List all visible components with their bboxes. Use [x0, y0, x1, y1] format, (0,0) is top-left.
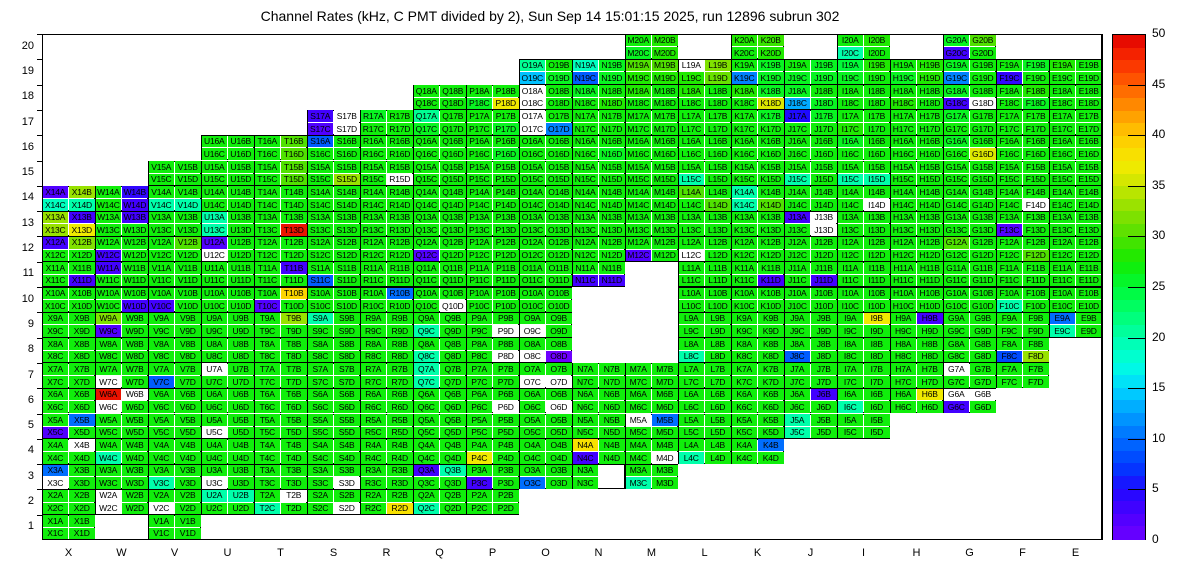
channel-p5a[interactable]: P5A	[467, 414, 493, 426]
channel-i5b[interactable]: I5B	[864, 414, 890, 426]
channel-p17d[interactable]: P17D	[493, 123, 519, 135]
channel-o17a[interactable]: O17A	[520, 110, 546, 122]
channel-p6a[interactable]: P6A	[467, 389, 493, 401]
channel-q7b[interactable]: Q7B	[440, 363, 466, 375]
channel-k16c[interactable]: K16C	[732, 148, 758, 160]
channel-i16c[interactable]: I16C	[838, 148, 864, 160]
channel-o5b[interactable]: O5B	[546, 414, 572, 426]
channel-h8a[interactable]: H8A	[891, 338, 917, 350]
channel-v12d[interactable]: V12D	[175, 250, 201, 262]
channel-i9b[interactable]: I9B	[864, 313, 890, 325]
channel-s6d[interactable]: S6D	[334, 401, 360, 413]
channel-f9b[interactable]: F9B	[1023, 313, 1049, 325]
channel-g13c[interactable]: G13C	[944, 224, 970, 236]
channel-v10a[interactable]: V10A	[149, 288, 175, 300]
channel-k15b[interactable]: K15B	[758, 161, 784, 173]
channel-s14b[interactable]: S14B	[334, 186, 360, 198]
channel-l15b[interactable]: L15B	[705, 161, 731, 173]
channel-q9c[interactable]: Q9C	[414, 325, 440, 337]
channel-r14a[interactable]: R14A	[361, 186, 387, 198]
channel-g10c[interactable]: G10C	[944, 300, 970, 312]
channel-v6d[interactable]: V6D	[175, 401, 201, 413]
channel-r15d[interactable]: R15D	[387, 174, 413, 186]
channel-n14d[interactable]: N14D	[599, 199, 625, 211]
channel-o19b[interactable]: O19B	[546, 60, 572, 72]
channel-k7a[interactable]: K7A	[732, 363, 758, 375]
channel-q2d[interactable]: Q2D	[440, 503, 466, 515]
channel-o13d[interactable]: O13D	[546, 224, 572, 236]
channel-u16b[interactable]: U16B	[228, 136, 254, 148]
channel-n4a[interactable]: N4A	[573, 439, 599, 451]
channel-x14c[interactable]: X14C	[43, 199, 69, 211]
channel-t11b[interactable]: T11B	[281, 262, 307, 274]
channel-m19a[interactable]: M19A	[626, 60, 652, 72]
channel-l13c[interactable]: L13C	[679, 224, 705, 236]
channel-v4b[interactable]: V4B	[175, 439, 201, 451]
channel-k6c[interactable]: K6C	[732, 401, 758, 413]
channel-h16a[interactable]: H16A	[891, 136, 917, 148]
channel-k9b[interactable]: K9B	[758, 313, 784, 325]
channel-l14b[interactable]: L14B	[705, 186, 731, 198]
channel-i11b[interactable]: I11B	[864, 262, 890, 274]
channel-v15c[interactable]: V15C	[149, 174, 175, 186]
channel-i12d[interactable]: I12D	[864, 250, 890, 262]
channel-i13d[interactable]: I13D	[864, 224, 890, 236]
channel-h19b[interactable]: H19B	[917, 60, 943, 72]
channel-u13b[interactable]: U13B	[228, 212, 254, 224]
channel-n14c[interactable]: N14C	[573, 199, 599, 211]
channel-g17b[interactable]: G17B	[970, 110, 996, 122]
channel-t4b[interactable]: T4B	[281, 439, 307, 451]
channel-v13d[interactable]: V13D	[175, 224, 201, 236]
channel-e19c[interactable]: E19C	[1050, 72, 1076, 84]
channel-o3a[interactable]: O3A	[520, 465, 546, 477]
channel-i11a[interactable]: I11A	[838, 262, 864, 274]
channel-o8a[interactable]: O8A	[520, 338, 546, 350]
channel-r14c[interactable]: R14C	[361, 199, 387, 211]
channel-x1c[interactable]: X1C	[43, 528, 69, 540]
channel-q8d[interactable]: Q8D	[440, 351, 466, 363]
channel-q11b[interactable]: Q11B	[440, 262, 466, 274]
channel-u10a[interactable]: U10A	[202, 288, 228, 300]
channel-u14b[interactable]: U14B	[228, 186, 254, 198]
channel-s15c[interactable]: S15C	[308, 174, 334, 186]
channel-j11b[interactable]: J11B	[811, 262, 837, 274]
channel-n5a[interactable]: N5A	[573, 414, 599, 426]
channel-u12a[interactable]: U12A	[202, 237, 228, 249]
channel-g8a[interactable]: G8A	[944, 338, 970, 350]
channel-t14a[interactable]: T14A	[255, 186, 281, 198]
channel-j19d[interactable]: J19D	[811, 72, 837, 84]
channel-l17a[interactable]: L17A	[679, 110, 705, 122]
channel-w14b[interactable]: W14B	[122, 186, 148, 198]
channel-f11d[interactable]: F11D	[1023, 275, 1049, 287]
channel-t3c[interactable]: T3C	[255, 477, 281, 489]
channel-g6d[interactable]: G6D	[970, 401, 996, 413]
channel-t16d[interactable]: T16D	[281, 148, 307, 160]
channel-s17a[interactable]: S17A	[308, 110, 334, 122]
channel-l6b[interactable]: L6B	[705, 389, 731, 401]
channel-p11d[interactable]: P11D	[493, 275, 519, 287]
channel-k15c[interactable]: K15C	[732, 174, 758, 186]
channel-m6c[interactable]: M6C	[626, 401, 652, 413]
channel-u9a[interactable]: U9A	[202, 313, 228, 325]
channel-j17b[interactable]: J17B	[811, 110, 837, 122]
channel-h6b[interactable]: H6B	[917, 389, 943, 401]
channel-h12a[interactable]: H12A	[891, 237, 917, 249]
channel-m13a[interactable]: M13A	[626, 212, 652, 224]
channel-p7b[interactable]: P7B	[493, 363, 519, 375]
channel-k11a[interactable]: K11A	[732, 262, 758, 274]
channel-p2c[interactable]: P2C	[467, 503, 493, 515]
channel-i5c[interactable]: I5C	[838, 427, 864, 439]
channel-q16d[interactable]: Q16D	[440, 148, 466, 160]
channel-k15d[interactable]: K15D	[758, 174, 784, 186]
channel-f9a[interactable]: F9A	[997, 313, 1023, 325]
channel-g19d[interactable]: G19D	[970, 72, 996, 84]
channel-h8b[interactable]: H8B	[917, 338, 943, 350]
channel-x9b[interactable]: X9B	[69, 313, 95, 325]
channel-t16a[interactable]: T16A	[255, 136, 281, 148]
channel-v1b[interactable]: V1B	[175, 515, 201, 527]
channel-q5b[interactable]: Q5B	[440, 414, 466, 426]
channel-q6b[interactable]: Q6B	[440, 389, 466, 401]
channel-g12b[interactable]: G12B	[970, 237, 996, 249]
channel-m17c[interactable]: M17C	[626, 123, 652, 135]
channel-s3a[interactable]: S3A	[308, 465, 334, 477]
channel-v3b[interactable]: V3B	[175, 465, 201, 477]
channel-w3a[interactable]: W3A	[96, 465, 122, 477]
channel-u10c[interactable]: U10C	[202, 300, 228, 312]
channel-r17d[interactable]: R17D	[387, 123, 413, 135]
channel-j5d[interactable]: J5D	[811, 427, 837, 439]
channel-s5b[interactable]: S5B	[334, 414, 360, 426]
channel-h7c[interactable]: H7C	[891, 376, 917, 388]
channel-f15a[interactable]: F15A	[997, 161, 1023, 173]
channel-g17c[interactable]: G17C	[944, 123, 970, 135]
channel-x11b[interactable]: X11B	[69, 262, 95, 274]
channel-n17c[interactable]: N17C	[573, 123, 599, 135]
channel-q6d[interactable]: Q6D	[440, 401, 466, 413]
channel-n13b[interactable]: N13B	[599, 212, 625, 224]
channel-o3d[interactable]: O3D	[546, 477, 572, 489]
channel-g20b[interactable]: G20B	[970, 35, 996, 47]
channel-q7d[interactable]: Q7D	[440, 376, 466, 388]
channel-q14d[interactable]: Q14D	[440, 199, 466, 211]
channel-p6c[interactable]: P6C	[467, 401, 493, 413]
channel-g12c[interactable]: G12C	[944, 250, 970, 262]
channel-f16b[interactable]: F16B	[1023, 136, 1049, 148]
channel-f7d[interactable]: F7D	[1023, 376, 1049, 388]
channel-e15d[interactable]: E15D	[1076, 174, 1102, 186]
channel-l5d[interactable]: L5D	[705, 427, 731, 439]
channel-o7c[interactable]: O7C	[520, 376, 546, 388]
channel-u7c[interactable]: U7C	[202, 376, 228, 388]
channel-f17d[interactable]: F17D	[1023, 123, 1049, 135]
channel-p9c[interactable]: P9C	[467, 325, 493, 337]
channel-g11b[interactable]: G11B	[970, 262, 996, 274]
channel-l11b[interactable]: L11B	[705, 262, 731, 274]
channel-f7b[interactable]: F7B	[1023, 363, 1049, 375]
channel-g10a[interactable]: G10A	[944, 288, 970, 300]
channel-o10b[interactable]: O10B	[546, 288, 572, 300]
channel-o12b[interactable]: O12B	[546, 237, 572, 249]
channel-s9a[interactable]: S9A	[308, 313, 334, 325]
channel-u16a[interactable]: U16A	[202, 136, 228, 148]
channel-v7a[interactable]: V7A	[149, 363, 175, 375]
channel-o18c[interactable]: O18C	[520, 98, 546, 110]
channel-f13d[interactable]: F13D	[1023, 224, 1049, 236]
channel-q3d[interactable]: Q3D	[440, 477, 466, 489]
channel-s12c[interactable]: S12C	[308, 250, 334, 262]
channel-x13d[interactable]: X13D	[69, 224, 95, 236]
channel-r3a[interactable]: R3A	[361, 465, 387, 477]
channel-r4a[interactable]: R4A	[361, 439, 387, 451]
channel-l9b[interactable]: L9B	[705, 313, 731, 325]
channel-o9c[interactable]: O9C	[520, 325, 546, 337]
channel-q9a[interactable]: Q9A	[414, 313, 440, 325]
channel-o16a[interactable]: O16A	[520, 136, 546, 148]
channel-q9d[interactable]: Q9D	[440, 325, 466, 337]
channel-p12d[interactable]: P12D	[493, 250, 519, 262]
channel-g13a[interactable]: G13A	[944, 212, 970, 224]
channel-g6b[interactable]: G6B	[970, 389, 996, 401]
channel-e16d[interactable]: E16D	[1076, 148, 1102, 160]
channel-l15c[interactable]: L15C	[679, 174, 705, 186]
channel-r8d[interactable]: R8D	[387, 351, 413, 363]
channel-m4a[interactable]: M4A	[626, 439, 652, 451]
channel-l12c[interactable]: L12C	[679, 250, 705, 262]
channel-k8d[interactable]: K8D	[758, 351, 784, 363]
channel-g13b[interactable]: G13B	[970, 212, 996, 224]
channel-j10c[interactable]: J10C	[785, 300, 811, 312]
channel-f11b[interactable]: F11B	[1023, 262, 1049, 274]
channel-r6a[interactable]: R6A	[361, 389, 387, 401]
channel-w11c[interactable]: W11C	[96, 275, 122, 287]
channel-g17d[interactable]: G17D	[970, 123, 996, 135]
channel-v12b[interactable]: V12B	[175, 237, 201, 249]
channel-g9d[interactable]: G9D	[970, 325, 996, 337]
channel-p15d[interactable]: P15D	[493, 174, 519, 186]
channel-j17c[interactable]: J17C	[785, 123, 811, 135]
channel-q14a[interactable]: Q14A	[414, 186, 440, 198]
channel-l16c[interactable]: L16C	[679, 148, 705, 160]
channel-f13c[interactable]: F13C	[997, 224, 1023, 236]
channel-o9b[interactable]: O9B	[546, 313, 572, 325]
channel-x8b[interactable]: X8B	[69, 338, 95, 350]
channel-p13a[interactable]: P13A	[467, 212, 493, 224]
channel-q15a[interactable]: Q15A	[414, 161, 440, 173]
channel-v15b[interactable]: V15B	[175, 161, 201, 173]
channel-k20c[interactable]: K20C	[732, 47, 758, 59]
channel-j9a[interactable]: J9A	[785, 313, 811, 325]
channel-p3a[interactable]: P3A	[467, 465, 493, 477]
channel-l15a[interactable]: L15A	[679, 161, 705, 173]
channel-l7b[interactable]: L7B	[705, 363, 731, 375]
channel-m20c[interactable]: M20C	[626, 47, 652, 59]
channel-o15d[interactable]: O15D	[546, 174, 572, 186]
channel-r7d[interactable]: R7D	[387, 376, 413, 388]
channel-r10b[interactable]: R10B	[387, 288, 413, 300]
channel-q6a[interactable]: Q6A	[414, 389, 440, 401]
channel-u2a[interactable]: U2A	[202, 490, 228, 502]
channel-w10b[interactable]: W10B	[122, 288, 148, 300]
channel-s5c[interactable]: S5C	[308, 427, 334, 439]
channel-p7d[interactable]: P7D	[493, 376, 519, 388]
channel-q3b[interactable]: Q3B	[440, 465, 466, 477]
channel-h17d[interactable]: H17D	[917, 123, 943, 135]
channel-v8b[interactable]: V8B	[175, 338, 201, 350]
channel-w5d[interactable]: W5D	[122, 427, 148, 439]
channel-w4d[interactable]: W4D	[122, 452, 148, 464]
channel-s8d[interactable]: S8D	[334, 351, 360, 363]
channel-m5b[interactable]: M5B	[652, 414, 678, 426]
channel-r12b[interactable]: R12B	[387, 237, 413, 249]
channel-u11b[interactable]: U11B	[228, 262, 254, 274]
channel-n5b[interactable]: N5B	[599, 414, 625, 426]
channel-h7a[interactable]: H7A	[891, 363, 917, 375]
channel-j15a[interactable]: J15A	[785, 161, 811, 173]
channel-p13b[interactable]: P13B	[493, 212, 519, 224]
channel-t13a[interactable]: T13A	[255, 212, 281, 224]
channel-j10d[interactable]: J10D	[811, 300, 837, 312]
channel-x8d[interactable]: X8D	[69, 351, 95, 363]
channel-i15d[interactable]: I15D	[864, 174, 890, 186]
channel-q10d[interactable]: Q10D	[440, 300, 466, 312]
channel-v4c[interactable]: V4C	[149, 452, 175, 464]
channel-l10b[interactable]: L10B	[705, 288, 731, 300]
channel-x1a[interactable]: X1A	[43, 515, 69, 527]
channel-f11c[interactable]: F11C	[997, 275, 1023, 287]
channel-f8a[interactable]: F8A	[997, 338, 1023, 350]
channel-r10d[interactable]: R10D	[387, 300, 413, 312]
channel-x12d[interactable]: X12D	[69, 250, 95, 262]
channel-o11b[interactable]: O11B	[546, 262, 572, 274]
channel-r9a[interactable]: R9A	[361, 313, 387, 325]
channel-s11b[interactable]: S11B	[334, 262, 360, 274]
channel-i15b[interactable]: I15B	[864, 161, 890, 173]
channel-e14a[interactable]: E14A	[1050, 186, 1076, 198]
channel-p6b[interactable]: P6B	[493, 389, 519, 401]
channel-x8c[interactable]: X8C	[43, 351, 69, 363]
channel-g11d[interactable]: G11D	[970, 275, 996, 287]
channel-n14a[interactable]: N14A	[573, 186, 599, 198]
channel-k20a[interactable]: K20A	[732, 35, 758, 47]
channel-i9d[interactable]: I9D	[864, 325, 890, 337]
channel-k9c[interactable]: K9C	[732, 325, 758, 337]
channel-x11a[interactable]: X11A	[43, 262, 69, 274]
channel-p5c[interactable]: P5C	[467, 427, 493, 439]
channel-h18a[interactable]: H18A	[891, 85, 917, 97]
channel-u7b[interactable]: U7B	[228, 363, 254, 375]
channel-i18d[interactable]: I18D	[864, 98, 890, 110]
channel-i5a[interactable]: I5A	[838, 414, 864, 426]
channel-g15c[interactable]: G15C	[944, 174, 970, 186]
channel-l14d[interactable]: L14D	[705, 199, 731, 211]
channel-q16a[interactable]: Q16A	[414, 136, 440, 148]
channel-x5b[interactable]: X5B	[69, 414, 95, 426]
channel-i10a[interactable]: I10A	[838, 288, 864, 300]
channel-k18c[interactable]: K18C	[732, 98, 758, 110]
channel-t12d[interactable]: T12D	[281, 250, 307, 262]
channel-g14a[interactable]: G14A	[944, 186, 970, 198]
channel-m5c[interactable]: M5C	[626, 427, 652, 439]
channel-r2d[interactable]: R2D	[387, 503, 413, 515]
channel-l16b[interactable]: L16B	[705, 136, 731, 148]
channel-r7c[interactable]: R7C	[361, 376, 387, 388]
channel-i19a[interactable]: I19A	[838, 60, 864, 72]
channel-s7d[interactable]: S7D	[334, 376, 360, 388]
channel-p10a[interactable]: P10A	[467, 288, 493, 300]
channel-t10b[interactable]: T10B	[281, 288, 307, 300]
channel-r11a[interactable]: R11A	[361, 262, 387, 274]
channel-v2c[interactable]: V2C	[149, 503, 175, 515]
channel-m17b[interactable]: M17B	[652, 110, 678, 122]
channel-r15c[interactable]: R15C	[361, 174, 387, 186]
channel-k14a[interactable]: K14A	[732, 186, 758, 198]
channel-u7d[interactable]: U7D	[228, 376, 254, 388]
channel-w9d[interactable]: W9D	[122, 325, 148, 337]
channel-v10b[interactable]: V10B	[175, 288, 201, 300]
channel-i16b[interactable]: I16B	[864, 136, 890, 148]
channel-i14d[interactable]: I14D	[864, 199, 890, 211]
channel-o18d[interactable]: O18D	[546, 98, 572, 110]
channel-t13d[interactable]: T13D	[281, 224, 307, 236]
channel-x13c[interactable]: X13C	[43, 224, 69, 236]
channel-k19d[interactable]: K19D	[758, 72, 784, 84]
channel-o8d[interactable]: O8D	[546, 351, 572, 363]
channel-q3a[interactable]: Q3A	[414, 465, 440, 477]
channel-w12d[interactable]: W12D	[122, 250, 148, 262]
channel-p16d[interactable]: P16D	[493, 148, 519, 160]
channel-q11a[interactable]: Q11A	[414, 262, 440, 274]
channel-i14b[interactable]: I14B	[864, 186, 890, 198]
channel-t3b[interactable]: T3B	[281, 465, 307, 477]
channel-u6c[interactable]: U6C	[202, 401, 228, 413]
channel-o19d[interactable]: O19D	[546, 72, 572, 84]
channel-o4d[interactable]: O4D	[546, 452, 572, 464]
channel-j18c[interactable]: J18C	[785, 98, 811, 110]
channel-f16c[interactable]: F16C	[997, 148, 1023, 160]
channel-h13a[interactable]: H13A	[891, 212, 917, 224]
channel-q11c[interactable]: Q11C	[414, 275, 440, 287]
channel-q16c[interactable]: Q16C	[414, 148, 440, 160]
channel-g8c[interactable]: G8C	[944, 351, 970, 363]
channel-k16a[interactable]: K16A	[732, 136, 758, 148]
channel-j6a[interactable]: J6A	[785, 389, 811, 401]
channel-q5d[interactable]: Q5D	[440, 427, 466, 439]
channel-f19b[interactable]: F19B	[1023, 60, 1049, 72]
channel-n6d[interactable]: N6D	[599, 401, 625, 413]
channel-h13b[interactable]: H13B	[917, 212, 943, 224]
channel-v6b[interactable]: V6B	[175, 389, 201, 401]
channel-n19b[interactable]: N19B	[599, 60, 625, 72]
channel-k8a[interactable]: K8A	[732, 338, 758, 350]
channel-l4c[interactable]: L4C	[679, 452, 705, 464]
channel-s3c[interactable]: S3C	[308, 477, 334, 489]
channel-j13d[interactable]: J13D	[811, 224, 837, 236]
channel-k20d[interactable]: K20D	[758, 47, 784, 59]
channel-p5d[interactable]: P5D	[493, 427, 519, 439]
channel-x7d[interactable]: X7D	[69, 376, 95, 388]
channel-n18d[interactable]: N18D	[599, 98, 625, 110]
channel-v14b[interactable]: V14B	[175, 186, 201, 198]
channel-o14a[interactable]: O14A	[520, 186, 546, 198]
channel-w6d[interactable]: W6D	[122, 401, 148, 413]
channel-e15a[interactable]: E15A	[1050, 161, 1076, 173]
channel-u15d[interactable]: U15D	[228, 174, 254, 186]
channel-q18b[interactable]: Q18B	[440, 85, 466, 97]
